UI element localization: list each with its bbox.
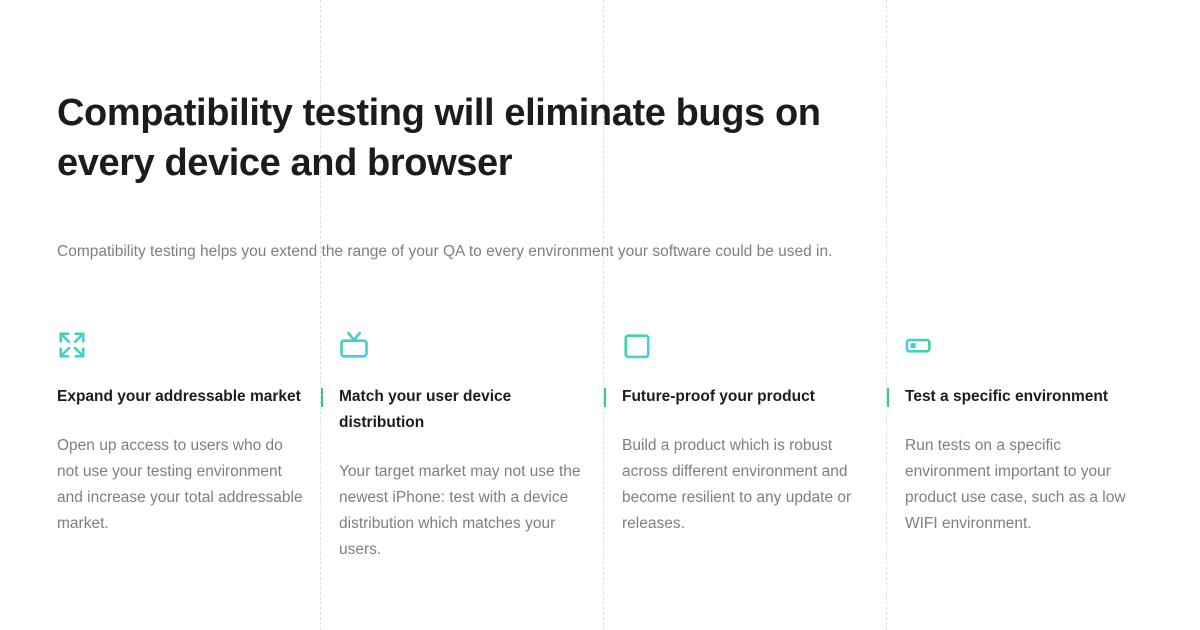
feature-column-expand-market: Expand your addressable market Open up a…: [57, 330, 307, 537]
feature-body: Run tests on a specific environment impo…: [887, 433, 1149, 537]
feature-body: Your target market may not use the newes…: [321, 459, 583, 563]
feature-heading: Test a specific environment: [887, 384, 1149, 410]
feature-heading-text: Expand your addressable market: [57, 388, 301, 405]
page-subtitle: Compatibility testing helps you extend t…: [57, 238, 867, 266]
battery-low-icon: [887, 330, 1149, 364]
expand-arrows-icon: [57, 330, 307, 364]
feature-heading: Expand your addressable market: [57, 384, 307, 410]
feature-column-device-distribution: Match your user device distribution Your…: [321, 330, 583, 563]
feature-heading-text: Future-proof your product: [622, 388, 815, 405]
page-title: Compatibility testing will eliminate bug…: [57, 88, 857, 188]
calendar-icon: [604, 330, 866, 364]
feature-column-future-proof: Future-proof your product Build a produc…: [604, 330, 866, 537]
feature-heading-text: Match your user device distribution: [339, 388, 511, 431]
feature-section: Compatibility testing will eliminate bug…: [0, 0, 1200, 630]
feature-heading-text: Test a specific environment: [905, 388, 1108, 405]
accent-bar: [604, 388, 606, 407]
feature-body: Open up access to users who do not use y…: [57, 433, 307, 537]
feature-body: Build a product which is robust across d…: [604, 433, 866, 537]
accent-bar: [321, 388, 323, 407]
accent-bar: [887, 388, 889, 407]
feature-columns: Expand your addressable market Open up a…: [0, 330, 1200, 620]
feature-heading: Match your user device distribution: [321, 384, 583, 436]
tv-icon: [321, 330, 583, 364]
feature-heading: Future-proof your product: [604, 384, 866, 410]
feature-column-specific-environment: Test a specific environment Run tests on…: [887, 330, 1149, 537]
